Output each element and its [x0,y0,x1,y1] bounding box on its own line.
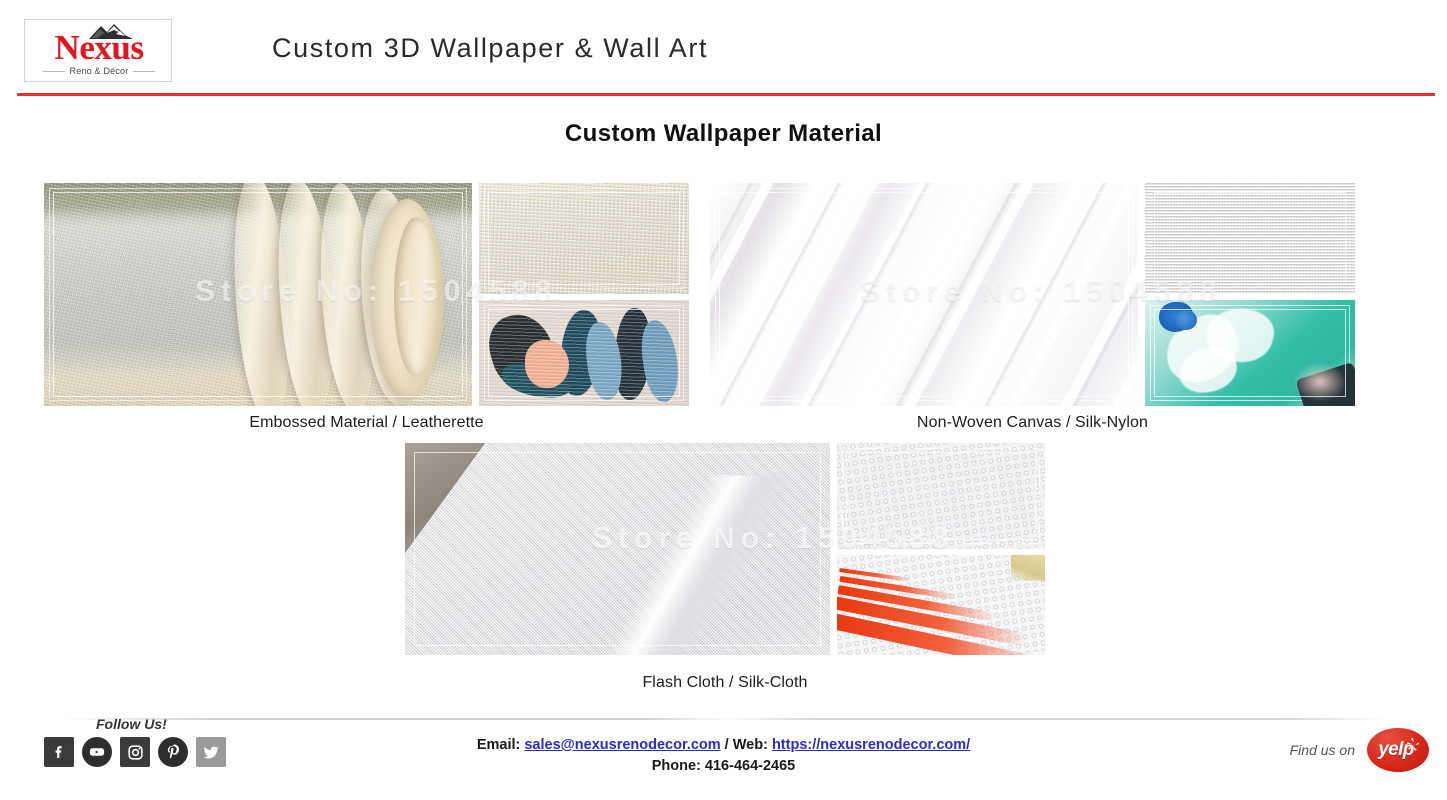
logo-wordmark: Nexus [25,28,172,68]
material-images-embossed [44,183,689,406]
header-divider [17,93,1435,96]
section-heading: Custom Wallpaper Material [0,120,1447,148]
material-caption-non-woven: Non-Woven Canvas / Silk-Nylon [710,414,1355,432]
logo-tagline: Reno & Décor [70,66,129,76]
email-label: Email: [477,737,521,753]
silk-sheen-overlay [710,183,1138,406]
logo-rule-left [43,71,65,72]
material-images-flash-cloth [405,443,1045,666]
material-side-column-flash-cloth [837,443,1045,666]
contact-info: Email: sales@nexusrenodecor.com / Web: h… [0,735,1447,777]
material-card-non-woven[interactable]: Non-Woven Canvas / Silk-Nylon [710,183,1355,432]
material-main-image-embossed[interactable] [44,183,472,406]
contact-separator: / [721,737,733,753]
web-label: Web: [733,737,768,753]
wallpaper-roll-inner [394,217,438,377]
find-us-on-label: Find us on [1290,742,1355,758]
material-main-image-flash-cloth[interactable] [405,443,830,655]
follow-us-label: Follow Us! [96,716,226,732]
beige-corner-accent [1011,555,1045,581]
print-grain-overlay [479,300,689,406]
contact-line-1: Email: sales@nexusrenodecor.com / Web: h… [0,735,1447,756]
page-title: Custom 3D Wallpaper & Wall Art [272,33,708,64]
brand-logo[interactable]: Nexus Reno & Décor [24,19,172,82]
material-card-flash-cloth[interactable]: Flash Cloth / Silk-Cloth [405,443,1045,692]
yelp-logo[interactable]: yelp [1367,728,1429,772]
material-caption-flash-cloth: Flash Cloth / Silk-Cloth [405,674,1045,692]
material-side-image-embossed-1[interactable] [479,183,689,294]
website-link[interactable]: https://nexusrenodecor.com/ [772,737,970,753]
footer-divider [60,718,1390,720]
dot-texture-overlay [837,443,1045,549]
flash-fold-highlight [405,464,830,655]
material-caption-embossed: Embossed Material / Leatherette [44,414,689,432]
material-images-non-woven [710,183,1355,406]
material-side-image-flash-cloth-2[interactable] [837,555,1045,655]
yelp-burst-icon [1405,736,1422,753]
material-side-image-non-woven-1[interactable] [1145,183,1355,294]
floral-artwork [1145,300,1355,406]
material-side-column-non-woven [1145,183,1355,406]
material-side-image-flash-cloth-1[interactable] [837,443,1045,549]
yelp-block[interactable]: Find us on yelp [1290,728,1429,772]
logo-tagline-wrap: Reno & Décor [25,66,172,76]
page-header: Nexus Reno & Décor Custom 3D Wallpaper &… [0,0,1447,100]
weave-texture-overlay [1145,183,1355,294]
material-card-embossed[interactable]: Embossed Material / Leatherette [44,183,689,432]
material-side-image-non-woven-2[interactable] [1145,300,1355,406]
phone-line: Phone: 416-464-2465 [0,756,1447,777]
material-side-image-embossed-2[interactable] [479,300,689,406]
logo-rule-right [133,71,155,72]
material-main-image-non-woven[interactable] [710,183,1138,406]
material-side-column-embossed [479,183,689,406]
email-link[interactable]: sales@nexusrenodecor.com [524,737,720,753]
